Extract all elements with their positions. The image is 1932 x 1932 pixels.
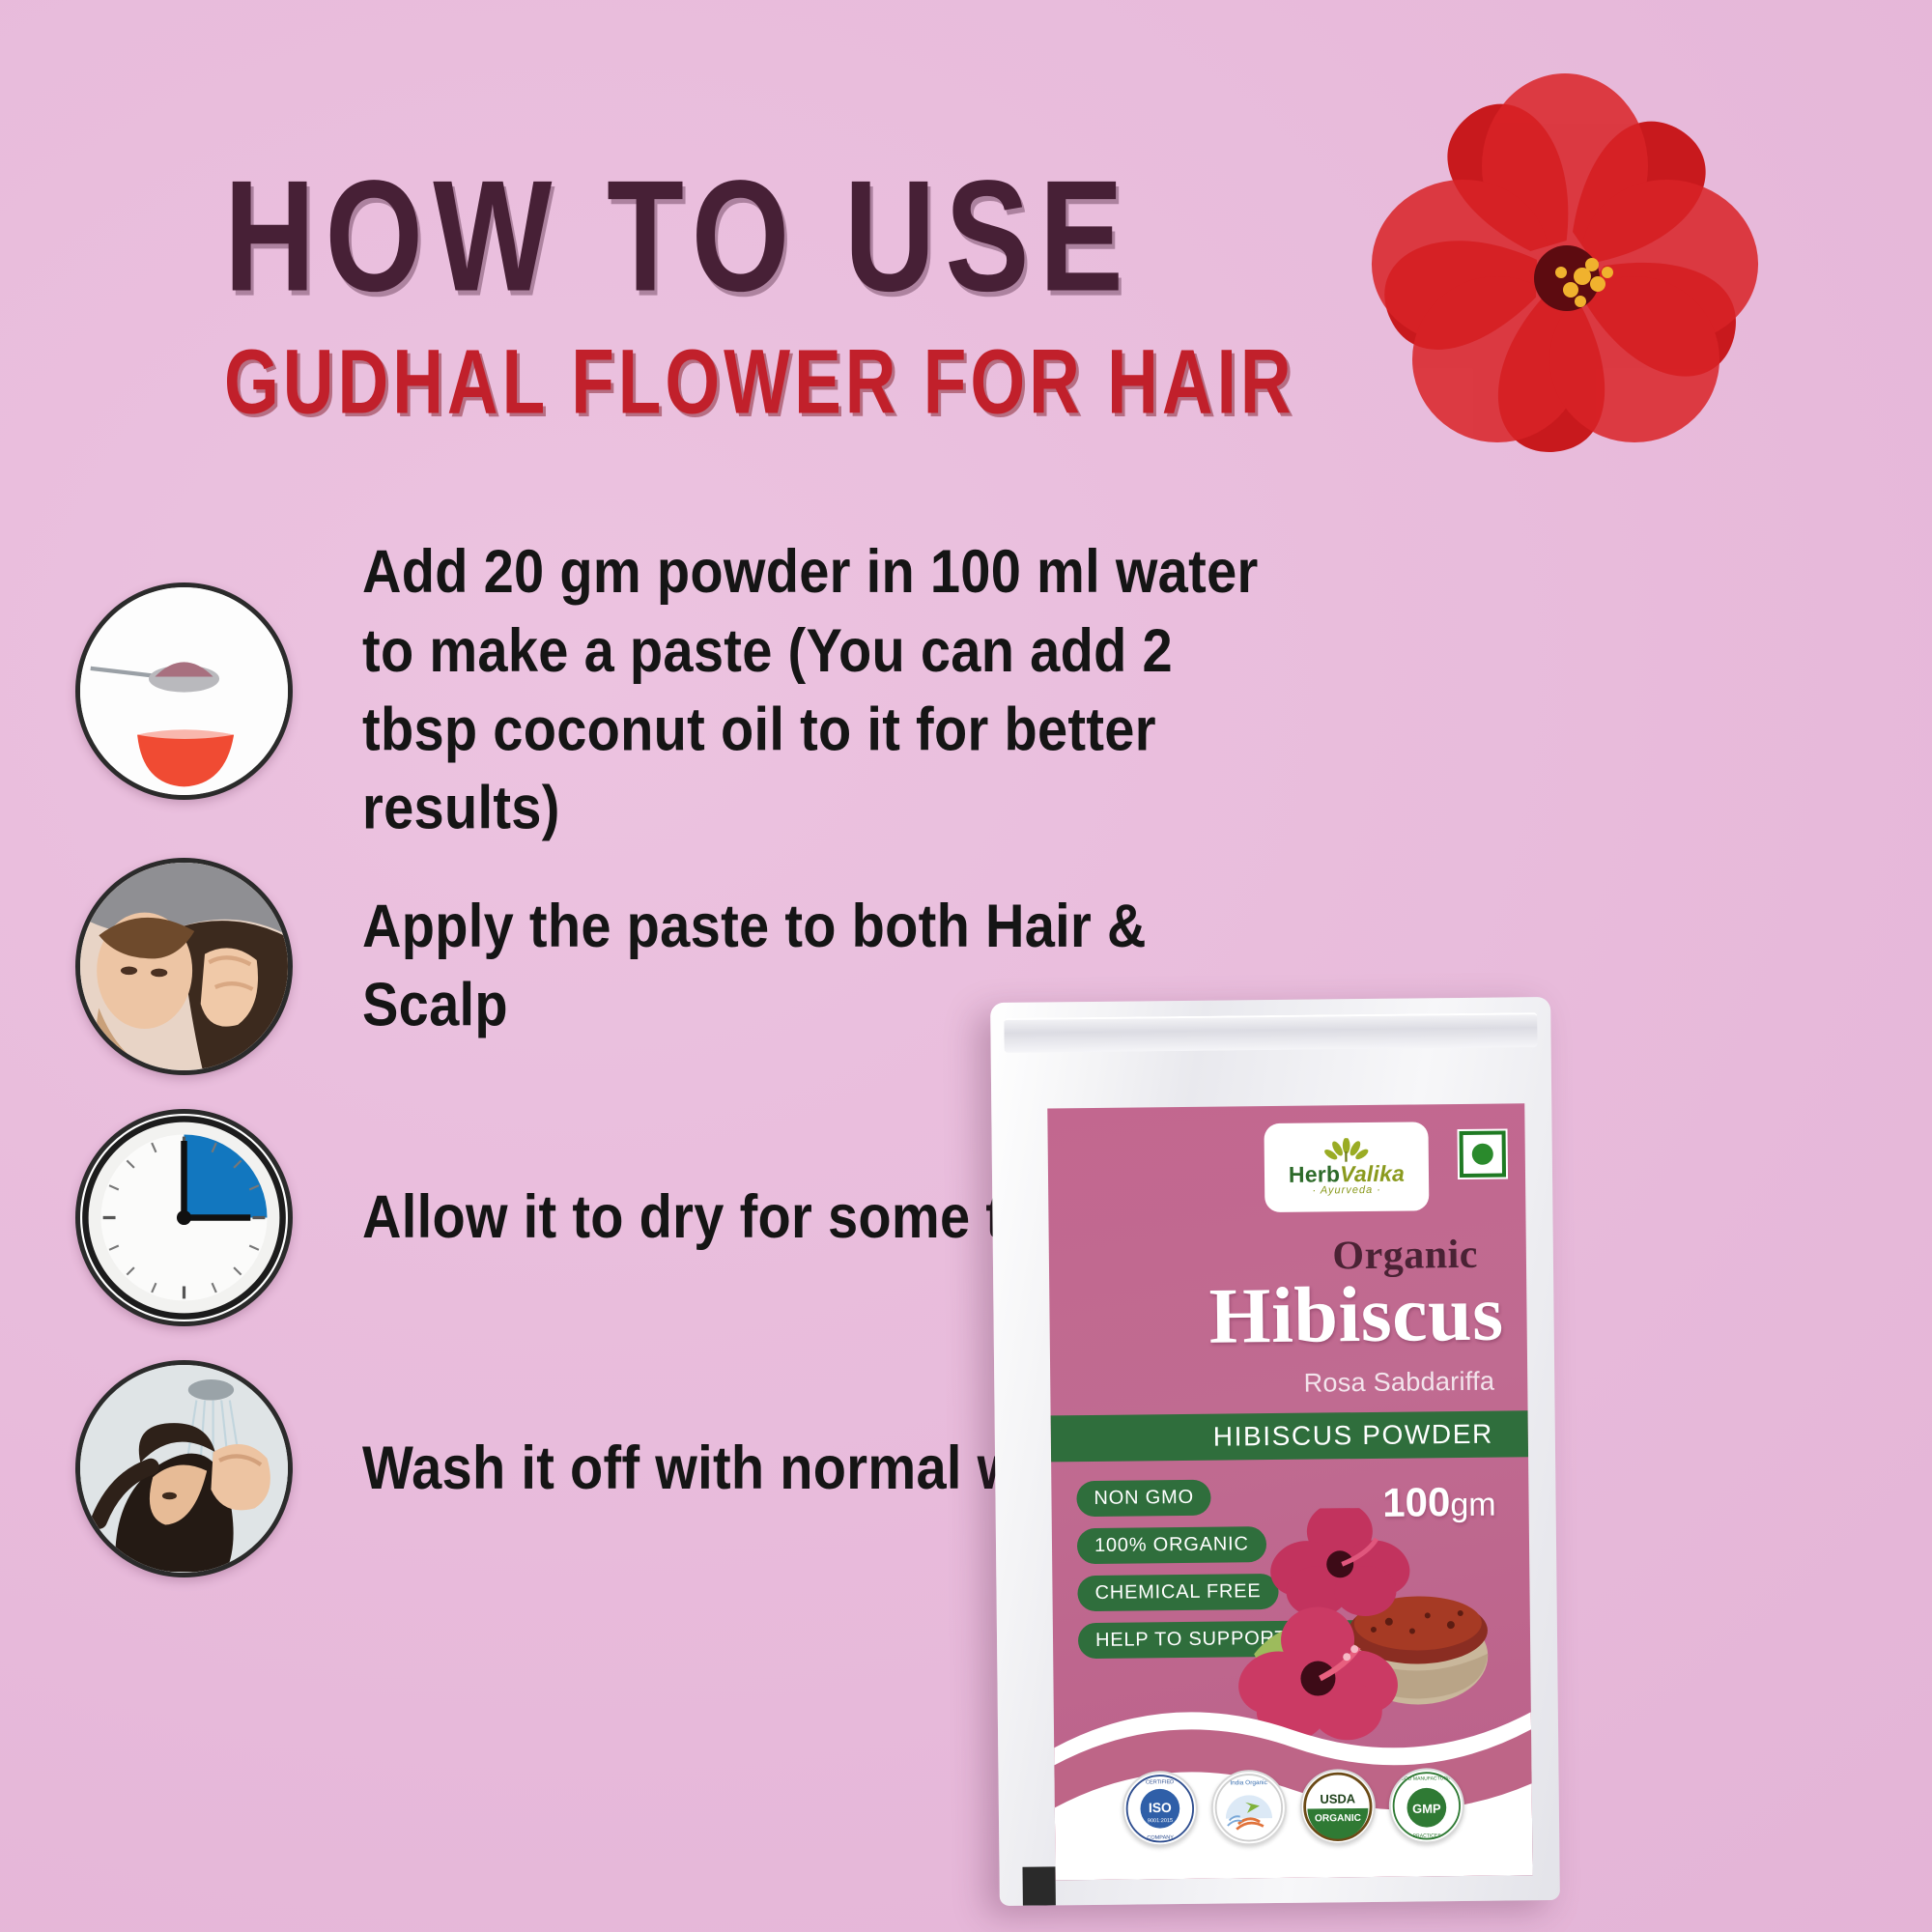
feature-badge: NON GMO [1076, 1480, 1211, 1517]
certification-seals: ISO 9001:2015 CERTIFIED COMPANY [1122, 1768, 1464, 1847]
gmp-seal: GMP GOOD MANUFACTURING PRACTICES [1388, 1768, 1464, 1844]
product-type-text: HIBISCUS POWDER [1213, 1419, 1493, 1453]
svg-text:GOOD MANUFACTURING: GOOD MANUFACTURING [1397, 1776, 1456, 1782]
brand-name: HerbValika [1289, 1163, 1405, 1186]
product-package: HerbValika · Ayurveda · Organic Hibiscus… [990, 997, 1560, 1906]
page-subtitle: GUDHAL FLOWER FOR HAIR [224, 336, 1295, 428]
pouch-zip-seal [1004, 1012, 1537, 1053]
vegetarian-green-dot-icon [1458, 1128, 1509, 1179]
svg-text:COMPANY: COMPANY [1147, 1835, 1174, 1841]
timer-clock-icon [75, 1109, 293, 1326]
step-text: Allow it to dry for some time [362, 1178, 1098, 1257]
spoon-powder-bowl-icon [75, 582, 293, 800]
svg-text:ISO: ISO [1149, 1800, 1172, 1815]
latin-name: Rosa Sabdariffa [1303, 1367, 1494, 1399]
svg-text:GMP: GMP [1412, 1802, 1441, 1816]
woman-washing-hair-shower-icon [75, 1360, 293, 1577]
woman-applying-paste-to-hair-icon [75, 858, 293, 1075]
india-organic-seal: India Organic [1210, 1770, 1287, 1846]
svg-text:USDA: USDA [1320, 1791, 1355, 1805]
iso-seal: ISO 9001:2015 CERTIFIED COMPANY [1122, 1771, 1198, 1847]
svg-text:India Organic: India Organic [1230, 1779, 1267, 1786]
svg-text:9001:2015: 9001:2015 [1148, 1818, 1173, 1824]
step-item: Add 20 gm powder in 100 ml water to make… [0, 541, 1352, 840]
product-type-band: HIBISCUS POWDER [1051, 1410, 1528, 1462]
brand-tagline: · Ayurveda · [1312, 1185, 1381, 1197]
svg-text:ORGANIC: ORGANIC [1315, 1813, 1362, 1825]
pouch-tear-notch [1022, 1866, 1055, 1905]
svg-text:CERTIFIED: CERTIFIED [1146, 1779, 1174, 1785]
brand-logo: HerbValika · Ayurveda · [1264, 1122, 1429, 1212]
page-title: HOW TO USE [224, 164, 1317, 310]
leaf-logo-icon [1324, 1138, 1369, 1163]
step-text: Add 20 gm powder in 100 ml water to make… [362, 533, 1261, 848]
usda-organic-seal: USDA ORGANIC [1299, 1769, 1376, 1845]
product-title: Hibiscus [1208, 1274, 1504, 1356]
infographic-canvas: HOW TO USE GUDHAL FLOWER FOR HAIR [0, 0, 1932, 1932]
headline-block: HOW TO USE GUDHAL FLOWER FOR HAIR [224, 164, 1295, 407]
hibiscus-flower-photo [1323, 29, 1806, 512]
svg-text:PRACTICES: PRACTICES [1413, 1833, 1442, 1839]
package-label: HerbValika · Ayurveda · Organic Hibiscus… [1047, 1103, 1532, 1880]
